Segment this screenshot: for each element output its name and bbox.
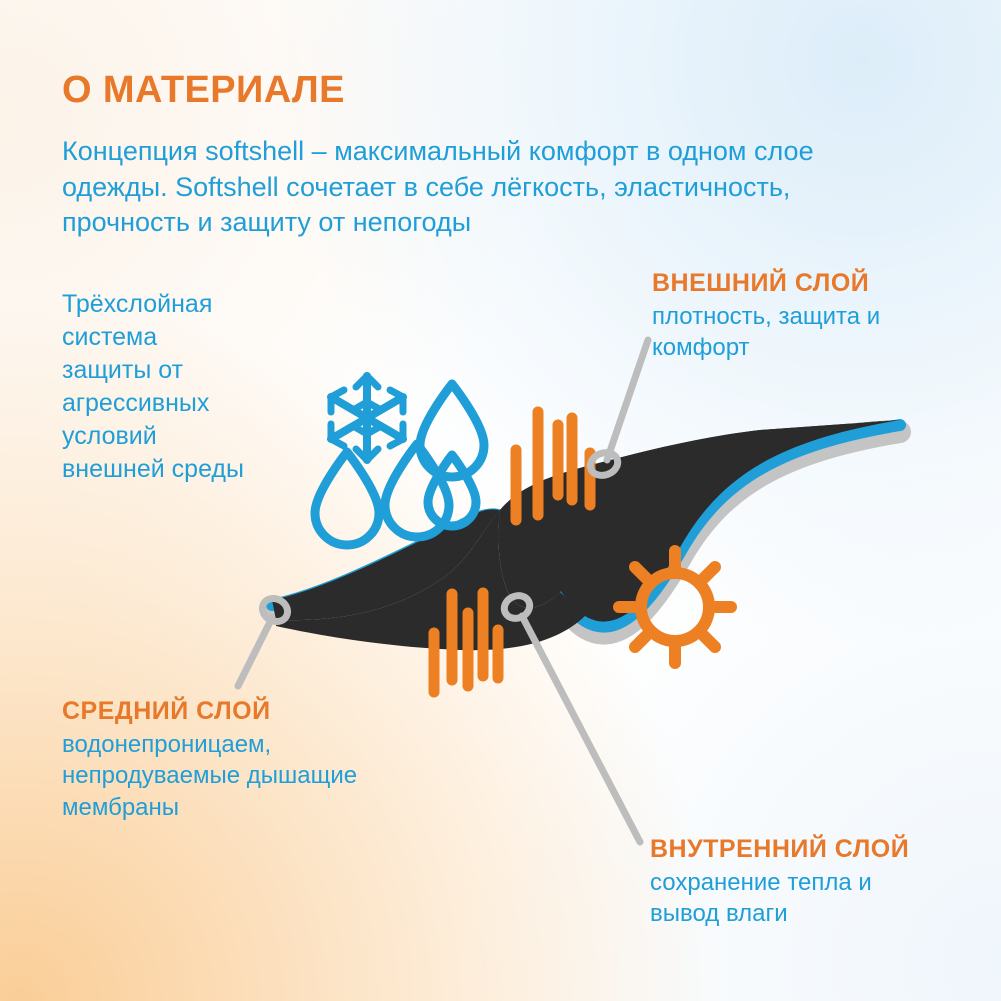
intro-line-2: одежды. Softshell сочетает в себе лёгкос… [62, 170, 942, 206]
intro-paragraph: Концепция softshell – максимальный комфо… [62, 134, 942, 241]
callout-middle-title: СРЕДНИЙ СЛОЙ [62, 696, 357, 727]
intro-line-1: Концепция softshell – максимальный комфо… [62, 134, 942, 170]
three-layer-system-note: Трёхслойная система защиты от агрессивны… [62, 288, 252, 486]
intro-line-3: прочность и защиту от непогоды [62, 205, 942, 241]
sun-icon [619, 551, 731, 663]
callout-inner-body-line-1: сохранение тепла и [650, 867, 909, 898]
snowflake-icon [331, 376, 403, 460]
callout-middle-body: водонепроницаем, непродуваемые дышащие м… [62, 729, 357, 823]
callout-middle-body-line-1: водонепроницаем, [62, 729, 357, 760]
callout-outer-title: ВНЕШНИЙ СЛОЙ [652, 268, 880, 299]
leader-line-middle [238, 594, 292, 686]
infographic-canvas: О МАТЕРИАЛЕ Концепция softshell – максим… [0, 0, 1001, 1001]
callout-outer-layer: ВНЕШНИЙ СЛОЙ плотность, защита и комфорт [652, 268, 880, 364]
page-title: О МАТЕРИАЛЕ [62, 70, 345, 112]
callout-middle-layer: СРЕДНИЙ СЛОЙ водонепроницаем, непродувае… [62, 696, 357, 823]
callout-outer-body-line-1: плотность, защита и [652, 301, 880, 332]
callout-middle-body-line-2: непродуваемые дышащие [62, 760, 357, 791]
callout-inner-body-line-2: вывод влаги [650, 898, 909, 929]
callout-inner-layer: ВНУТРЕННИЙ СЛОЙ сохранение тепла и вывод… [650, 834, 909, 930]
callout-outer-body-line-2: комфорт [652, 332, 880, 363]
callout-middle-body-line-3: мембраны [62, 792, 357, 823]
callout-outer-body: плотность, защита и комфорт [652, 301, 880, 363]
water-drop-icon [315, 452, 379, 545]
callout-inner-body: сохранение тепла и вывод влаги [650, 867, 909, 929]
callout-inner-title: ВНУТРЕННИЙ СЛОЙ [650, 834, 909, 865]
